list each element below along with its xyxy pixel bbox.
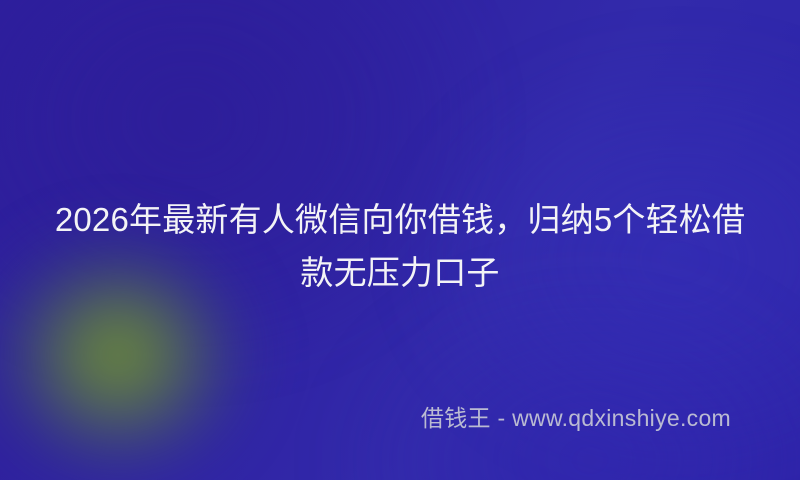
poster-headline: 2026年最新有人微信向你借钱，归纳5个轻松借款无压力口子 <box>0 193 800 299</box>
green-glow-blob <box>0 215 268 480</box>
site-watermark: 借钱王 - www.qdxinshiye.com <box>421 404 731 432</box>
background-wash-bottom <box>330 270 800 480</box>
background-wash-top-left <box>0 0 500 380</box>
poster-canvas: 2026年最新有人微信向你借钱，归纳5个轻松借款无压力口子 借钱王 - www.… <box>0 0 800 480</box>
